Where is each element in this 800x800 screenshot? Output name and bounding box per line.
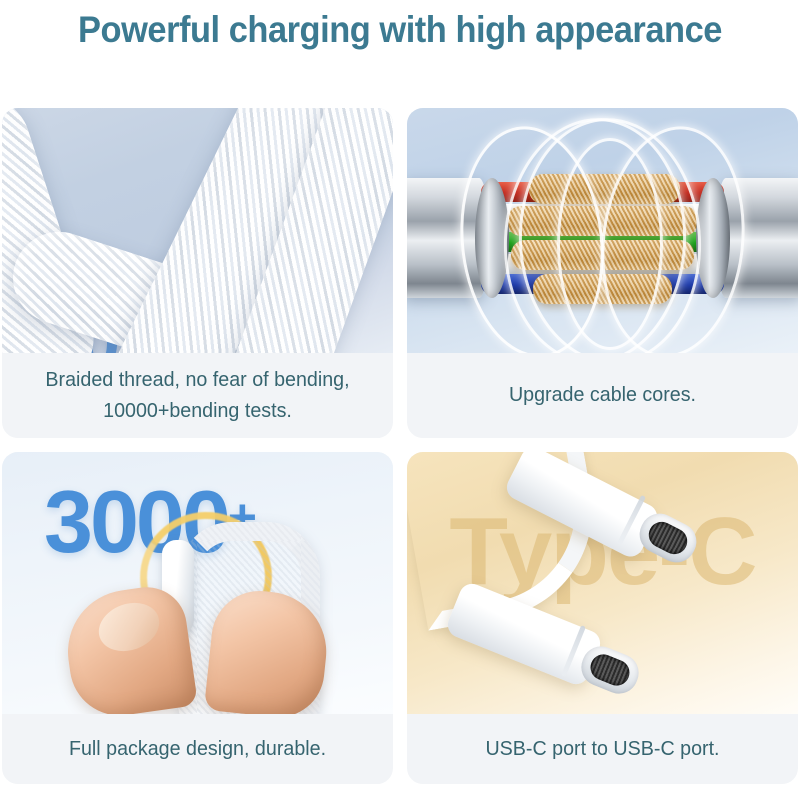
card-caption-usb-c-to-usb-c: USB-C port to USB-C port. <box>415 714 790 784</box>
feature-card-full-package-design[interactable]: 3000+ Full package design, durable. <box>2 452 393 784</box>
card-caption-full-package-design: Full package design, durable. <box>10 714 385 784</box>
card-artwork-hand-holding-connector: 3000+ <box>2 452 393 714</box>
card-caption-cable-cores: Upgrade cable cores. <box>415 353 790 438</box>
card-artwork-braided-cable: 10000+ <box>2 108 393 353</box>
page-title: Powerful charging with high appearance <box>28 2 772 58</box>
feature-card-cable-cores[interactable]: Upgrade cable cores. <box>407 108 798 438</box>
product-infographic: Powerful charging with high appearance 1… <box>0 0 800 800</box>
feature-card-usb-c-to-usb-c[interactable]: Type-C USB-C port to USB-C port. <box>407 452 798 784</box>
caption-line-1: Upgrade cable cores. <box>509 380 696 411</box>
card-caption-braided-thread: Braided thread, no fear of bending, 1000… <box>10 353 385 438</box>
caption-line-1: Full package design, durable. <box>69 734 326 765</box>
card-artwork-usb-c-connectors: Type-C <box>407 452 798 714</box>
feature-card-grid: 10000+ Braided thread, no fear of bendin… <box>0 108 800 796</box>
caption-line-1: USB-C port to USB-C port. <box>485 734 719 765</box>
caption-line-1: Braided thread, no fear of bending, <box>45 365 349 396</box>
feature-card-braided-thread[interactable]: 10000+ Braided thread, no fear of bendin… <box>2 108 393 438</box>
card-artwork-cable-cores <box>407 108 798 353</box>
caption-line-2: 10000+bending tests. <box>45 396 349 427</box>
